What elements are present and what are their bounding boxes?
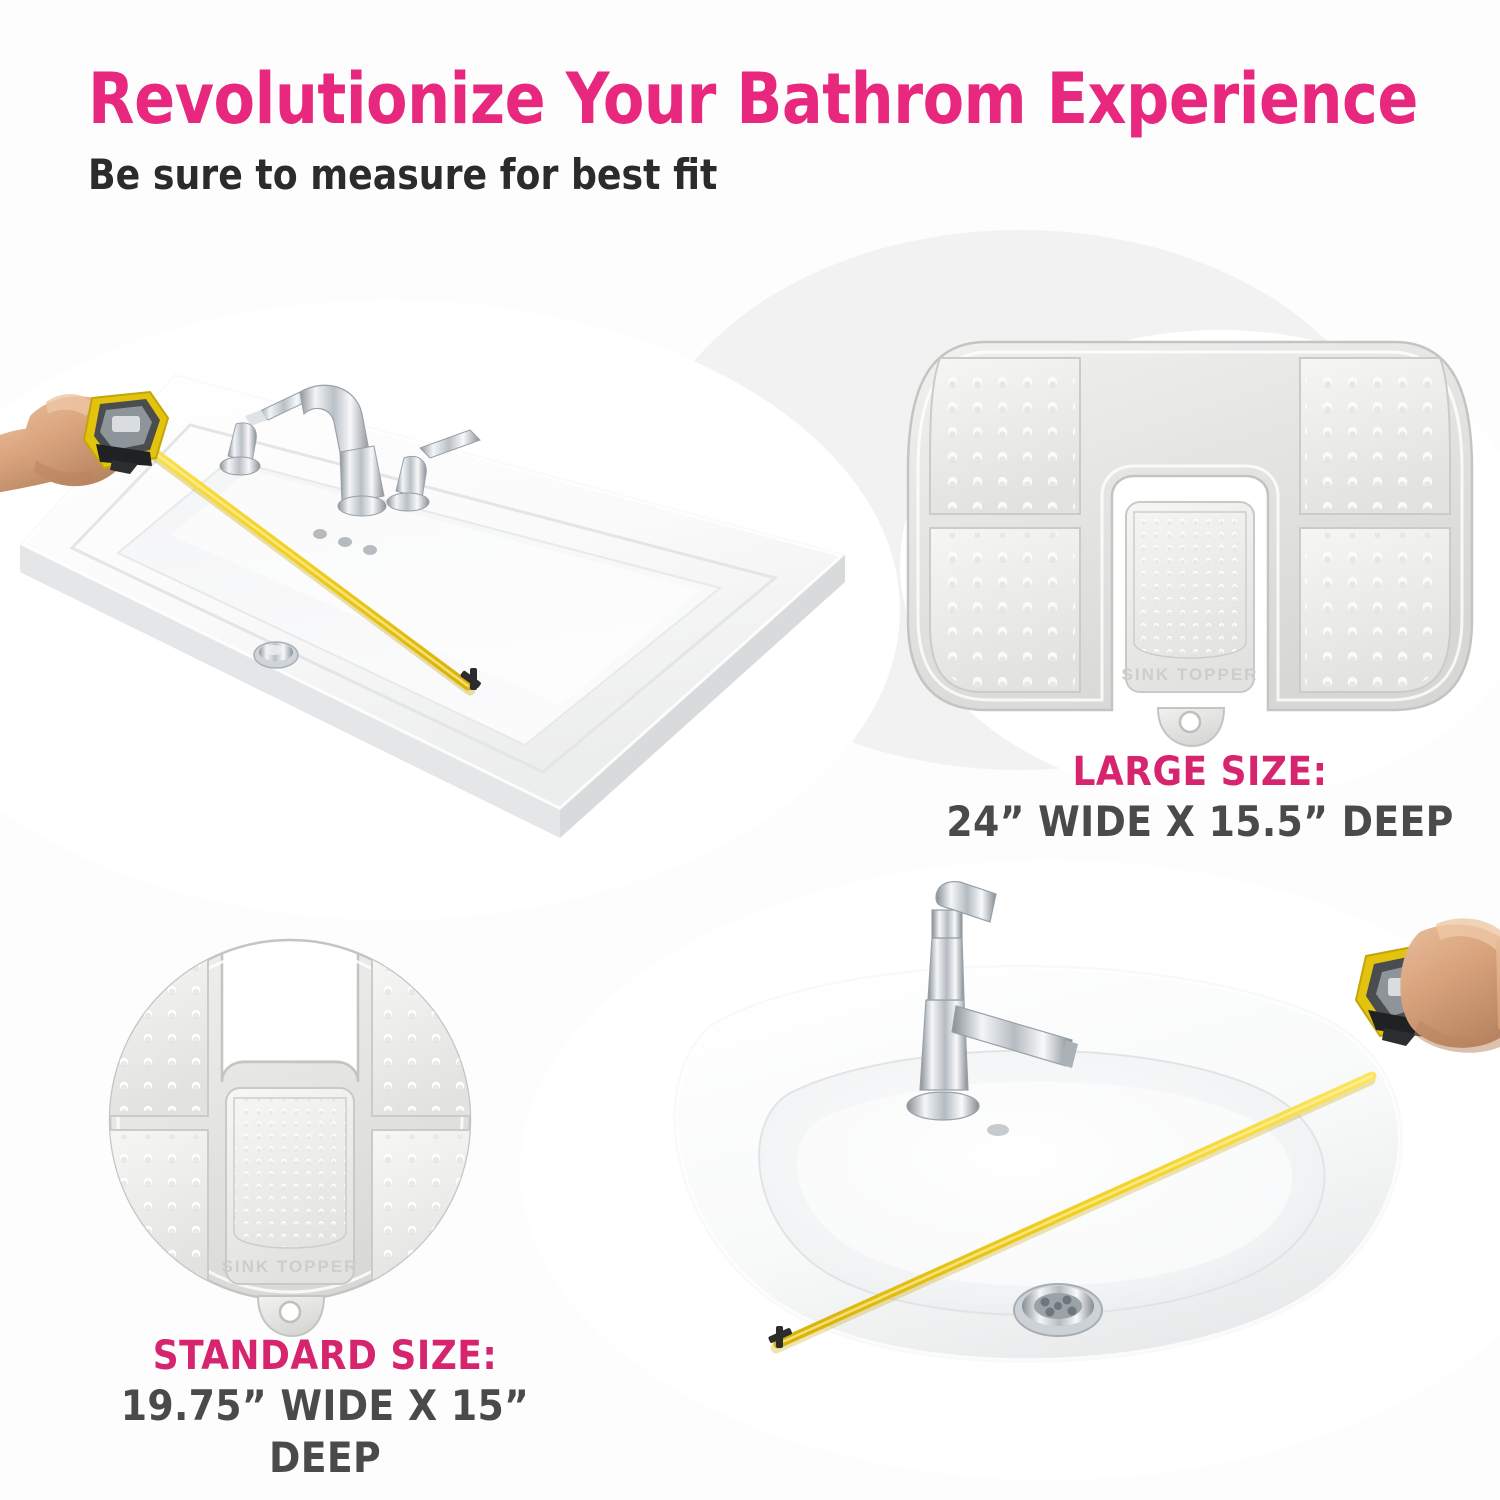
page-title: Revolutionize Your Bathrom Experience xyxy=(88,62,1394,136)
overflow-slot-icon xyxy=(987,1124,1009,1136)
mat-panel-top-right xyxy=(1300,358,1450,514)
standard-size-dims: 19.75” WIDE X 15” DEEP xyxy=(60,1380,590,1484)
hand-holding-tape-measure xyxy=(1356,918,1500,1060)
mat-brand-emboss: SINK TOPPER xyxy=(1122,665,1259,684)
photo-standard-sink-topper-mat: SINK TOPPER xyxy=(40,930,560,1340)
headline-block: Revolutionize Your Bathrom Experience Be… xyxy=(88,62,1448,200)
hang-hole-icon xyxy=(1180,712,1200,732)
page-subtitle: Be sure to measure for best fit xyxy=(88,150,1394,200)
hang-hole-icon xyxy=(280,1302,300,1322)
overflow-hole xyxy=(363,545,377,555)
caption-standard-size: STANDARD SIZE: 19.75” WIDE X 15” DEEP xyxy=(60,1332,590,1484)
large-size-label: LARGE SIZE: xyxy=(930,748,1470,796)
mat-center-panel: SINK TOPPER xyxy=(222,1088,359,1284)
photo-round-basin-measurement xyxy=(580,880,1500,1420)
basin-body xyxy=(675,966,1402,1362)
basin-drain-icon xyxy=(1014,1284,1102,1336)
mat-panel-top-left xyxy=(930,358,1080,514)
caption-large-size: LARGE SIZE: 24” WIDE X 15.5” DEEP xyxy=(930,748,1470,848)
mat-panel-bottom-left xyxy=(930,528,1080,692)
mat-hang-tab xyxy=(258,1296,324,1336)
mat-hang-tab xyxy=(1158,708,1224,746)
photo-rectangular-sink-measurement xyxy=(0,320,880,850)
standard-size-label: STANDARD SIZE: xyxy=(60,1332,590,1380)
mat-panel-top-right xyxy=(372,950,488,1116)
large-size-dims: 24” WIDE X 15.5” DEEP xyxy=(930,796,1470,848)
mat-brand-emboss: SINK TOPPER xyxy=(222,1257,359,1276)
mat-panel-bottom-right xyxy=(1300,528,1450,692)
overflow-hole xyxy=(338,537,352,547)
sink-drain-icon xyxy=(254,642,298,668)
overflow-hole xyxy=(313,529,327,539)
infographic-canvas: Revolutionize Your Bathrom Experience Be… xyxy=(0,0,1500,1500)
mat-panel-top-left xyxy=(92,950,208,1116)
mat-center-panel: SINK TOPPER xyxy=(1122,502,1259,692)
photo-large-sink-topper-mat: SINK TOPPER xyxy=(890,320,1490,750)
